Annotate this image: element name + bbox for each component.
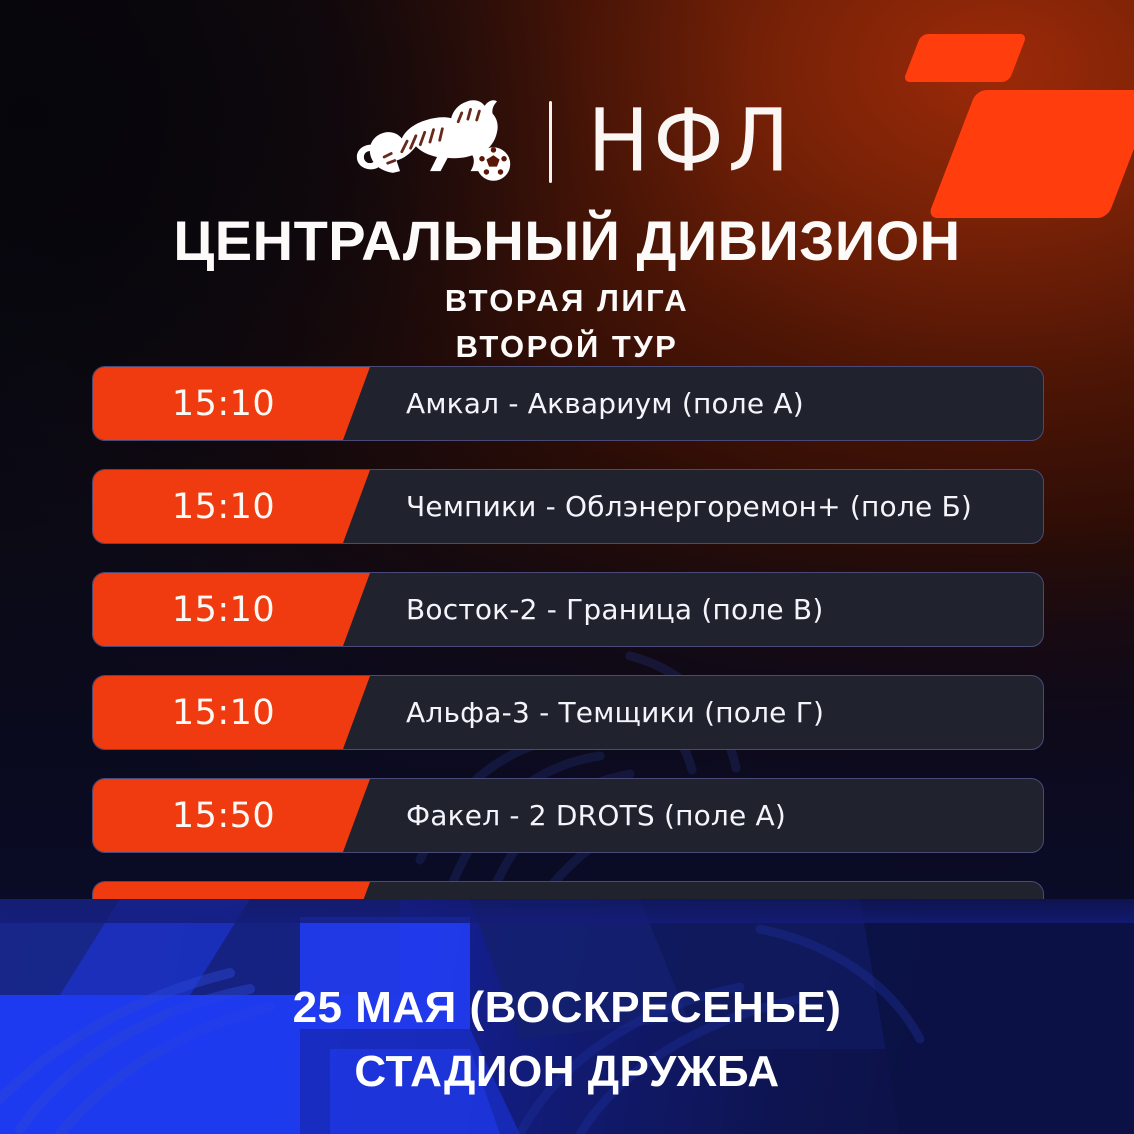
match-fixture: Чемпики - Облэнергоремон+ (поле Б) (406, 470, 1025, 543)
match-row[interactable]: 15:10 Восток-2 - Граница (поле В) (92, 572, 1044, 647)
match-row[interactable]: 15:10 Чемпики - Облэнергоремон+ (поле Б) (92, 469, 1044, 544)
brand-logo-row: НФЛ (0, 0, 1134, 198)
match-row[interactable]: 15:10 Альфа-3 - Темщики (поле Г) (92, 675, 1044, 750)
match-list: 15:10 Амкал - Аквариум (поле А) 15:10 Че… (92, 366, 1044, 984)
match-fixture: Факел - 2 DROTS (поле А) (406, 779, 1025, 852)
event-venue: СТАДИОН ДРУЖБА (0, 1046, 1134, 1098)
match-time-block: 15:10 (93, 367, 370, 440)
round-subtitle: ВТОРОЙ ТУР (0, 329, 1134, 365)
match-time: 15:10 (172, 487, 291, 527)
match-time-block: 15:10 (93, 470, 370, 543)
match-time: 15:10 (172, 384, 291, 424)
match-time: 15:10 (172, 693, 291, 733)
poster-header: НФЛ ЦЕНТРАЛЬНЫЙ ДИВИЗИОН ВТОРАЯ ЛИГА ВТО… (0, 0, 1134, 365)
brand-abbreviation: НФЛ (588, 103, 794, 181)
match-time: 15:10 (172, 590, 291, 630)
match-fixture: Альфа-3 - Темщики (поле Г) (406, 676, 1025, 749)
logo-divider-icon (549, 101, 552, 183)
match-time-block: 15:10 (93, 573, 370, 646)
division-title: ЦЕНТРАЛЬНЫЙ ДИВИЗИОН (0, 212, 1134, 269)
league-subtitle: ВТОРАЯ ЛИГА (0, 283, 1134, 319)
match-fixture: Восток-2 - Граница (поле В) (406, 573, 1025, 646)
match-time-block: 15:50 (93, 779, 370, 852)
match-fixture: Амкал - Аквариум (поле А) (406, 367, 1025, 440)
tiger-football-logo-icon (341, 90, 519, 194)
match-time-block: 15:10 (93, 676, 370, 749)
footer-info: 25 МАЯ (ВОСКРЕСЕНЬЕ) СТАДИОН ДРУЖБА (0, 982, 1134, 1098)
match-row[interactable]: 15:10 Амкал - Аквариум (поле А) (92, 366, 1044, 441)
footer-fade (0, 899, 1134, 923)
match-row[interactable]: 15:50 Факел - 2 DROTS (поле А) (92, 778, 1044, 853)
match-time: 15:50 (172, 796, 291, 836)
event-date: 25 МАЯ (ВОСКРЕСЕНЬЕ) (0, 982, 1134, 1034)
poster-root: НФЛ ЦЕНТРАЛЬНЫЙ ДИВИЗИОН ВТОРАЯ ЛИГА ВТО… (0, 0, 1134, 1134)
